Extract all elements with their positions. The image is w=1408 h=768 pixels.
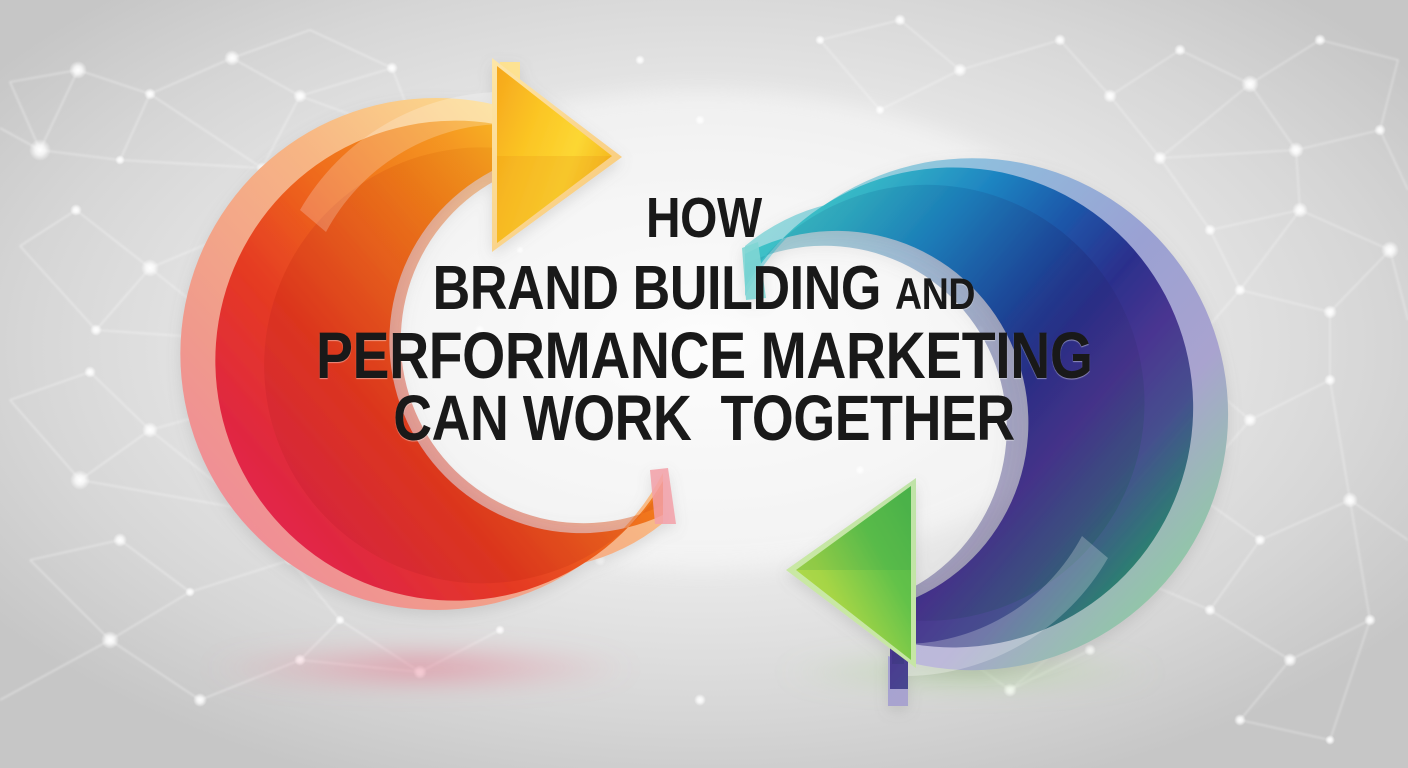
red-ground-shadow bbox=[205, 646, 635, 690]
right-arrow-blue-green bbox=[742, 158, 1228, 706]
right-arrow-head-shade bbox=[796, 486, 911, 570]
poster-canvas: HOW BRAND BUILDING AND PERFORMANCE MARKE… bbox=[0, 0, 1408, 768]
left-arrow-orange-red bbox=[180, 58, 676, 610]
arrow-diagram bbox=[0, 0, 1408, 768]
